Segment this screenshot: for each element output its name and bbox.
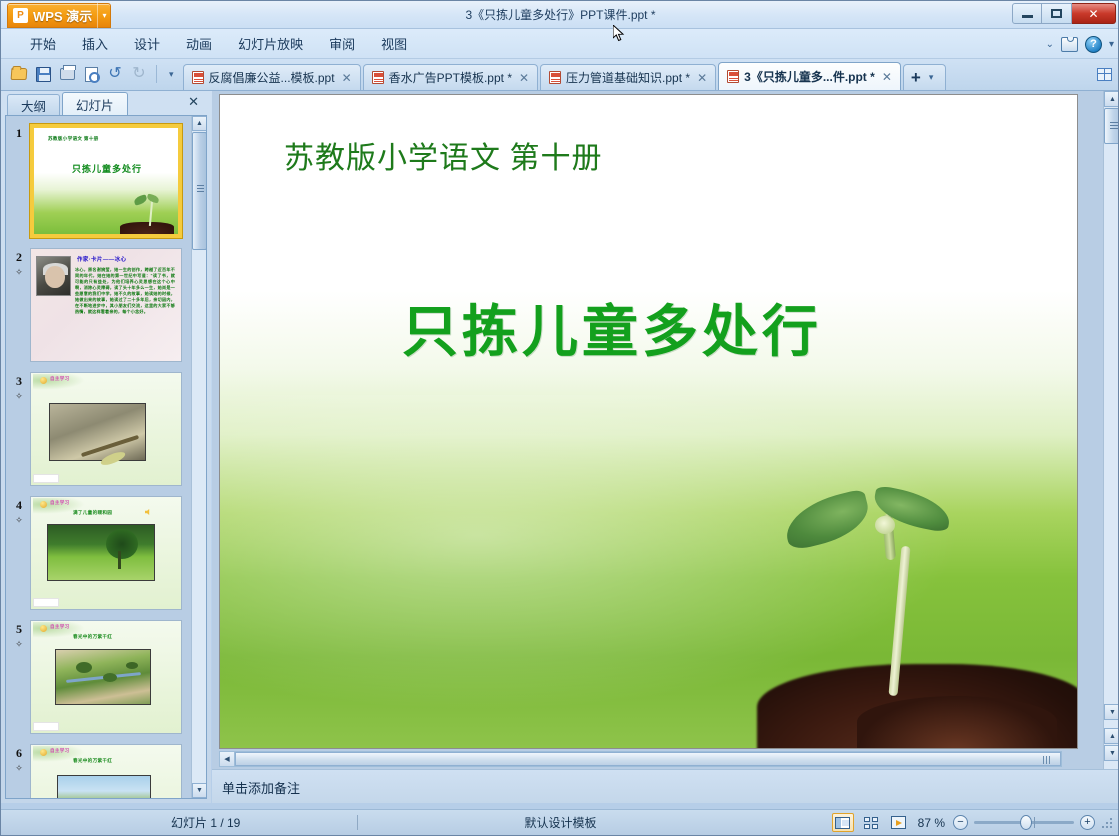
animation-star-icon: ✧ [8, 639, 30, 650]
zoom-slider[interactable] [974, 821, 1074, 824]
help-dropdown-icon[interactable]: ▾ [1109, 39, 1114, 50]
leaf-left-shape [780, 488, 874, 551]
badge-icon [40, 749, 47, 756]
photo-park [47, 524, 155, 581]
window-title: 3《只拣儿童多处行》PPT课件.ppt * [1, 6, 1119, 23]
thumbnail-slide-art: 苏教版小学语文 第十册 只拣儿童多处行 [34, 128, 178, 234]
vertical-scrollbar[interactable]: ▲ ▼ ▲ ▼ [1103, 91, 1119, 769]
slide-thumbnail-3[interactable]: 3 ✧ 自主学习 [6, 368, 192, 492]
thumbnail-frame: 自主学习 春光中的万紫千红 [30, 620, 182, 734]
chevron-down-icon[interactable]: ⌄ [1046, 39, 1054, 50]
thumbnail-title: 只拣儿童多处行 [72, 162, 142, 175]
navigator-tabs: 大纲 幻灯片 ✕ [1, 91, 211, 115]
thumbnail-frame: 自主学习 满了儿童的颐和园 [30, 496, 182, 610]
thumbnail-meta: 4 ✧ [8, 496, 30, 526]
thumbnail-number: 4 [8, 498, 30, 513]
scroll-down-button[interactable]: ▼ [1104, 704, 1119, 720]
thumbnail-body-text: 冰心，原名谢婉莹，她一生的创作，跨越了近百年不同的年代，她在她的第一世纪中写道：… [75, 267, 175, 315]
photo-sky-landscape [57, 775, 151, 798]
thumbnail-slide-art: 自主学习 [31, 373, 181, 485]
scroll-down-button[interactable]: ▼ [192, 783, 207, 798]
slideshow-play-icon [891, 816, 906, 829]
menu-design[interactable]: 设计 [121, 30, 173, 57]
scrollbar-grip-icon [1110, 122, 1118, 123]
scrollbar-grip-icon [197, 188, 204, 189]
save-icon [36, 67, 51, 82]
previous-slide-button[interactable]: ▲ [1104, 728, 1119, 744]
wps-presentation-window: P WPS 演示 ▾ 3《只拣儿童多处行》PPT课件.ppt * ✕ 开始 插入… [0, 0, 1119, 836]
slide-thumbnail-5[interactable]: 5 ✧ 自主学习 春光中的万紫千红 [6, 616, 192, 740]
tab-outline[interactable]: 大纲 [7, 94, 60, 115]
photo-landscape [55, 649, 151, 705]
trunk-shape [118, 551, 121, 569]
thumbnail-heading: 春光中的万紫千红 [73, 758, 112, 764]
thumbnail-slide-art: 自主学习 春光中的万紫千红 [31, 745, 181, 798]
quick-access-dropdown-icon[interactable]: ▾ [164, 69, 179, 80]
skin-shirt-icon[interactable] [1061, 37, 1078, 52]
face-shape [45, 266, 65, 288]
close-panel-icon[interactable]: ✕ [188, 94, 199, 110]
status-bar-right: 87 % − + [832, 813, 1112, 832]
redo-button[interactable]: ↻ [129, 64, 149, 84]
slide-counter: 幻灯片 1 / 19 [171, 814, 240, 831]
thumbnail-meta: 1 [8, 124, 30, 141]
river-shape [66, 672, 141, 683]
notes-placeholder[interactable]: 单击添加备注 [222, 778, 300, 797]
scroll-up-button[interactable]: ▲ [192, 116, 207, 131]
tree-shape [106, 529, 138, 559]
thumbnail-badge-label: 自主学习 [50, 624, 70, 630]
thumbnail-scrollbar[interactable]: ▲ ▼ [191, 116, 206, 798]
slide-thumbnail-list[interactable]: 1 苏教版小学语文 第十册 只拣儿童多处行 [6, 116, 192, 798]
new-tab-button[interactable]: + ▾ [903, 64, 946, 90]
file-tab-4-active[interactable]: 3《只拣儿童多...件.ppt * ✕ [718, 62, 901, 90]
thumbnail-meta: 3 ✧ [8, 372, 30, 402]
vertical-scrollbar-thumb[interactable] [1104, 108, 1119, 144]
file-tab-2-label: 香水广告PPT模板.ppt * [389, 69, 512, 86]
minimize-button[interactable] [1012, 3, 1042, 24]
file-tab-4-close-icon[interactable]: ✕ [880, 70, 892, 84]
badge-icon [40, 625, 47, 632]
text-placeholder-box [33, 722, 59, 731]
thumbnail-slide-art: 自主学习 春光中的万紫千红 [31, 621, 181, 733]
catkin-shape [99, 449, 126, 467]
thumbnail-number: 3 [8, 374, 30, 389]
file-tab-3-label: 压力管道基础知识.ppt * [566, 69, 690, 86]
file-tab-1[interactable]: 反腐倡廉公益...模板.ppt ✕ [183, 64, 361, 90]
animation-star-icon: ✧ [8, 763, 30, 774]
thumbnail-frame: 苏教版小学语文 第十册 只拣儿童多处行 [30, 124, 182, 238]
restore-button[interactable] [1042, 3, 1072, 24]
scrollbar-grip-icon [1043, 756, 1044, 764]
zoom-out-button[interactable]: − [953, 815, 968, 830]
next-slide-button[interactable]: ▼ [1104, 745, 1119, 761]
animation-star-icon: ✧ [8, 515, 30, 526]
soil-shape [120, 222, 174, 234]
menu-review[interactable]: 审阅 [316, 30, 368, 57]
open-icon [11, 68, 28, 80]
ppt-document-icon [372, 71, 384, 84]
notes-pane[interactable]: 单击添加备注 [212, 769, 1119, 803]
slide-editor-area: 苏教版小学语文 第十册 只拣儿童多处行 ◀ ▲ [212, 91, 1119, 803]
leaf-left-shape [133, 194, 148, 206]
minimize-icon [1022, 15, 1033, 18]
menu-animation[interactable]: 动画 [173, 30, 225, 57]
thumbnail-meta: 5 ✧ [8, 620, 30, 650]
scroll-left-button[interactable]: ◀ [220, 752, 235, 766]
horizontal-scrollbar[interactable]: ◀ [219, 751, 1062, 767]
resize-grip-icon[interactable] [1101, 817, 1112, 828]
horizontal-scrollbar-thumb[interactable] [235, 752, 1061, 766]
scrollbar-thumb[interactable] [192, 132, 207, 250]
close-button[interactable]: ✕ [1072, 3, 1116, 24]
thumbnail-number: 2 [8, 250, 30, 265]
current-slide-canvas[interactable]: 苏教版小学语文 第十册 只拣儿童多处行 [219, 94, 1078, 749]
print-icon [60, 68, 75, 80]
slide-title-textbox[interactable]: 只拣儿童多处行 [402, 287, 822, 368]
status-bar: 默认设计模板 幻灯片 1 / 19 87 % − + [1, 809, 1119, 835]
restore-icon [1051, 9, 1062, 18]
slide-background: 苏教版小学语文 第十册 只拣儿童多处行 [220, 95, 1077, 748]
window-controls: ✕ [1012, 3, 1116, 24]
thumbnail-frame: 自主学习 [30, 372, 182, 486]
help-icon[interactable]: ? [1085, 36, 1102, 53]
leaf-right-shape [146, 193, 159, 203]
zoom-slider-tick [1034, 817, 1035, 828]
file-tab-3-close-icon[interactable]: ✕ [695, 71, 707, 85]
menu-start[interactable]: 开始 [17, 30, 69, 57]
zoom-in-button[interactable]: + [1080, 815, 1095, 830]
ppt-document-icon [727, 70, 739, 83]
window-layout-icon[interactable] [1097, 68, 1112, 81]
portrait-photo [36, 256, 71, 296]
zoom-slider-handle[interactable] [1020, 815, 1032, 830]
badge-icon [40, 501, 47, 508]
slide-sorter-view-button[interactable] [860, 813, 882, 832]
scroll-up-button[interactable]: ▲ [1104, 91, 1119, 107]
sprout-node-shape [875, 516, 895, 534]
thumbnail-badge-label: 自主学习 [50, 500, 70, 506]
slide-thumbnail-2[interactable]: 2 ✧ 作家·卡片——冰心 冰心，原名谢婉莹，她一生的创作，跨越了近百年不同的年… [6, 244, 192, 368]
save-button[interactable] [33, 64, 53, 84]
slide-thumbnail-1[interactable]: 1 苏教版小学语文 第十册 只拣儿童多处行 [6, 120, 192, 244]
text-placeholder-box [33, 598, 59, 607]
thumbnail-slide-art: 自主学习 满了儿童的颐和园 [31, 497, 181, 609]
sound-icon [145, 509, 151, 515]
thumbnail-number: 6 [8, 746, 30, 761]
navigator-body: 1 苏教版小学语文 第十册 只拣儿童多处行 [5, 115, 207, 799]
thumbnail-subtitle: 苏教版小学语文 第十册 [48, 136, 99, 142]
menu-insert[interactable]: 插入 [69, 30, 121, 57]
file-tab-2-close-icon[interactable]: ✕ [517, 71, 529, 85]
menu-bar-right: ⌄ ? ▾ [1046, 29, 1114, 59]
ppt-document-icon [549, 71, 561, 84]
thumbnail-slide-art: 作家·卡片——冰心 冰心，原名谢婉莹，她一生的创作，跨越了近百年不同的年代，她在… [31, 249, 181, 361]
text-placeholder-box [33, 474, 59, 483]
thumbnail-number: 5 [8, 622, 30, 637]
slide-thumbnail-6[interactable]: 6 ✧ 自主学习 春光中的万紫千红 [6, 740, 192, 798]
normal-view-button[interactable] [832, 813, 854, 832]
thumbnail-frame: 作家·卡片——冰心 冰心，原名谢婉莹，她一生的创作，跨越了近百年不同的年代，她在… [30, 248, 182, 362]
print-button[interactable] [57, 64, 77, 84]
file-tab-1-label: 反腐倡廉公益...模板.ppt [209, 69, 335, 86]
thumbnail-badge-label: 自主学习 [50, 376, 70, 382]
badge-icon [40, 377, 47, 384]
thumbnail-meta: 6 ✧ [8, 744, 30, 774]
slideshow-view-button[interactable] [888, 813, 910, 832]
title-bar: P WPS 演示 ▾ 3《只拣儿童多处行》PPT课件.ppt * ✕ [1, 1, 1119, 29]
bush-shape [76, 662, 92, 673]
menu-view[interactable]: 视图 [368, 30, 420, 57]
zoom-level-label: 87 % [916, 816, 947, 830]
thumbnail-meta: 2 ✧ [8, 248, 30, 278]
slide-sorter-icon [864, 817, 878, 829]
soil-front-shape [857, 696, 1057, 748]
print-preview-button[interactable] [81, 64, 101, 84]
slide-navigator-panel: 大纲 幻灯片 ✕ 1 苏教版小学语文 第十册 只拣儿童多处行 [1, 91, 211, 803]
undo-button[interactable]: ↺ [105, 64, 125, 84]
thumbnail-number: 1 [8, 126, 30, 141]
slide-subtitle-textbox[interactable]: 苏教版小学语文 第十册 [284, 133, 603, 177]
file-tab-1-close-icon[interactable]: ✕ [340, 71, 352, 85]
file-tab-bar-right [1097, 58, 1119, 90]
thumbnail-title: 作家·卡片——冰心 [77, 255, 126, 263]
normal-view-icon [835, 817, 850, 829]
animation-star-icon: ✧ [8, 391, 30, 402]
tab-slides[interactable]: 幻灯片 [62, 92, 128, 115]
file-tab-3[interactable]: 压力管道基础知识.ppt * ✕ [540, 64, 716, 90]
wps-brand-label: WPS 演示 [33, 6, 92, 25]
slide-thumbnail-4[interactable]: 4 ✧ 自主学习 满了儿童的颐和园 [6, 492, 192, 616]
toolbar-divider [156, 65, 157, 83]
thumbnail-frame: 自主学习 春光中的万紫千红 [30, 744, 182, 798]
new-tab-dropdown-icon[interactable]: ▾ [924, 72, 939, 83]
menu-slideshow[interactable]: 幻灯片放映 [225, 30, 316, 57]
animation-star-icon: ✧ [8, 267, 30, 278]
sprout-artwork [657, 418, 1077, 748]
thumbnail-heading: 满了儿童的颐和园 [73, 510, 112, 516]
status-divider [357, 815, 358, 830]
file-tab-4-label: 3《只拣儿童多...件.ppt * [744, 68, 875, 85]
file-tab-2[interactable]: 香水广告PPT模板.ppt * ✕ [363, 64, 538, 90]
menu-bar: 开始 插入 设计 动画 幻灯片放映 审阅 视图 ⌄ ? ▾ [1, 29, 1119, 59]
quick-access-toolbar: ↺ ↻ ▾ [1, 58, 183, 90]
wps-brand-button[interactable]: P WPS 演示 [7, 3, 111, 28]
thumbnail-badge-label: 自主学习 [50, 748, 70, 754]
open-button[interactable] [9, 64, 29, 84]
ppt-document-icon [192, 71, 204, 84]
file-tab-bar: ↺ ↻ ▾ 反腐倡廉公益...模板.ppt ✕ 香水广告PPT模板.ppt * … [1, 59, 1119, 91]
wps-logo-icon: P [13, 8, 28, 23]
plus-icon: + [911, 72, 921, 84]
print-preview-icon [85, 67, 98, 82]
thumbnail-heading: 春光中的万紫千红 [73, 634, 112, 640]
wps-brand-dropdown-icon[interactable]: ▾ [97, 3, 111, 28]
photo-willow [49, 403, 146, 461]
